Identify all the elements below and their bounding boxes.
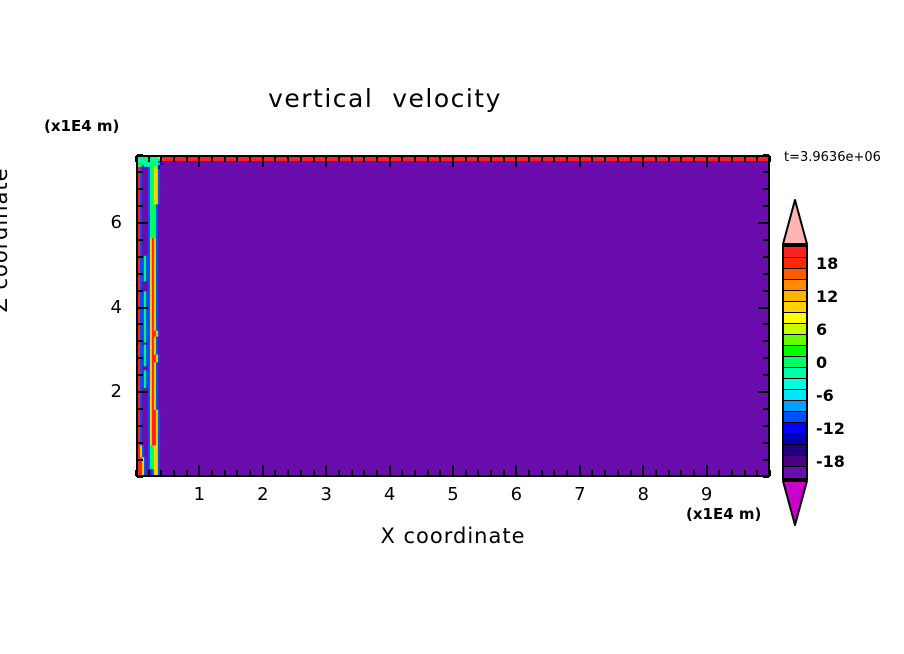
- x-minor-tick: [769, 156, 771, 162]
- x-minor-tick: [566, 156, 568, 162]
- x-minor-tick: [490, 156, 492, 162]
- colorbar-band: [784, 335, 806, 346]
- y-minor-tick: [763, 273, 769, 275]
- x-major-tick: [198, 465, 200, 476]
- x-minor-tick: [300, 470, 302, 476]
- x-minor-tick: [566, 470, 568, 476]
- colorbar-band: [784, 357, 806, 368]
- colorbar-tick-label: -12: [816, 419, 876, 438]
- x-minor-tick: [541, 156, 543, 162]
- colorbar-band: [784, 269, 806, 280]
- y-minor-tick: [137, 442, 143, 444]
- colorbar-band: [784, 379, 806, 390]
- x-major-tick: [325, 465, 327, 476]
- x-minor-tick: [439, 470, 441, 476]
- x-major-tick: [389, 156, 391, 167]
- y-major-tick: [137, 222, 148, 224]
- colorbar-tick-label: 0: [816, 353, 876, 372]
- y-minor-tick: [763, 256, 769, 258]
- x-minor-tick: [541, 470, 543, 476]
- x-minor-tick: [655, 156, 657, 162]
- x-minor-tick: [604, 156, 606, 162]
- x-minor-tick: [528, 156, 530, 162]
- x-minor-tick: [591, 470, 593, 476]
- x-major-tick: [706, 156, 708, 167]
- colorbar-band: [784, 456, 806, 467]
- x-minor-tick: [148, 470, 150, 476]
- y-tick-label: 6: [96, 212, 122, 233]
- y-minor-tick: [137, 408, 143, 410]
- y-minor-tick: [137, 374, 143, 376]
- colorbar-tick-label: 18: [816, 254, 876, 273]
- y-minor-tick: [137, 323, 143, 325]
- x-minor-tick: [351, 156, 353, 162]
- x-minor-tick: [300, 156, 302, 162]
- x-minor-tick: [401, 470, 403, 476]
- x-minor-tick: [630, 156, 632, 162]
- x-minor-tick: [148, 156, 150, 162]
- colorbar-bottom-arrow-icon: [782, 480, 808, 526]
- x-minor-tick: [756, 470, 758, 476]
- x-tick-label: 2: [243, 484, 283, 505]
- colorbar-band: [784, 324, 806, 335]
- x-minor-tick: [503, 156, 505, 162]
- x-minor-tick: [236, 470, 238, 476]
- x-tick-label: 9: [687, 484, 727, 505]
- y-minor-tick: [137, 188, 143, 190]
- x-minor-tick: [503, 470, 505, 476]
- x-minor-tick: [477, 470, 479, 476]
- x-minor-tick: [477, 156, 479, 162]
- x-minor-tick: [490, 470, 492, 476]
- y-minor-tick: [763, 205, 769, 207]
- x-minor-tick: [224, 156, 226, 162]
- x-minor-tick: [160, 156, 162, 162]
- x-minor-tick: [617, 156, 619, 162]
- y-axis-unit-label: (x1E4 m): [44, 117, 119, 135]
- x-minor-tick: [655, 470, 657, 476]
- x-minor-tick: [439, 156, 441, 162]
- x-tick-label: 1: [179, 484, 219, 505]
- x-minor-tick: [351, 470, 353, 476]
- x-minor-tick: [287, 470, 289, 476]
- x-major-tick: [579, 465, 581, 476]
- x-tick-label: 7: [560, 484, 600, 505]
- x-minor-tick: [756, 156, 758, 162]
- x-minor-tick: [553, 470, 555, 476]
- x-minor-tick: [414, 156, 416, 162]
- colorbar-bands: [782, 245, 808, 480]
- x-minor-tick: [249, 156, 251, 162]
- y-minor-tick: [763, 476, 769, 478]
- x-tick-label: 5: [433, 484, 473, 505]
- y-major-tick: [758, 307, 769, 309]
- x-minor-tick: [173, 156, 175, 162]
- x-minor-tick: [224, 470, 226, 476]
- x-minor-tick: [135, 156, 137, 162]
- contour-plot-area: [136, 155, 770, 477]
- x-minor-tick: [363, 470, 365, 476]
- x-minor-tick: [604, 470, 606, 476]
- x-major-tick: [452, 156, 454, 167]
- x-minor-tick: [591, 156, 593, 162]
- colorbar-tick-label: 6: [816, 320, 876, 339]
- y-tick-label: 2: [96, 381, 122, 402]
- y-minor-tick: [763, 340, 769, 342]
- x-minor-tick: [211, 470, 213, 476]
- x-major-tick: [579, 156, 581, 167]
- y-minor-tick: [763, 425, 769, 427]
- colorbar-tick-label: -18: [816, 452, 876, 471]
- x-minor-tick: [313, 470, 315, 476]
- colorbar-top-arrow-icon: [782, 199, 808, 245]
- chart-title: vertical velocity: [0, 84, 770, 113]
- x-minor-tick: [668, 470, 670, 476]
- colorbar-tick-label: -6: [816, 386, 876, 405]
- colorbar-band: [784, 258, 806, 269]
- x-minor-tick: [287, 156, 289, 162]
- x-minor-tick: [160, 470, 162, 476]
- x-minor-tick: [313, 156, 315, 162]
- x-minor-tick: [528, 470, 530, 476]
- colorbar-band: [784, 467, 806, 478]
- x-minor-tick: [173, 470, 175, 476]
- y-minor-tick: [763, 357, 769, 359]
- x-minor-tick: [274, 470, 276, 476]
- y-minor-tick: [763, 154, 769, 156]
- colorbar-band: [784, 390, 806, 401]
- x-major-tick: [452, 465, 454, 476]
- colorbar-band: [784, 247, 806, 258]
- x-major-tick: [642, 465, 644, 476]
- y-minor-tick: [137, 205, 143, 207]
- x-minor-tick: [731, 156, 733, 162]
- colorbar-band: [784, 302, 806, 313]
- x-major-tick: [262, 465, 264, 476]
- y-minor-tick: [137, 476, 143, 478]
- x-minor-tick: [236, 156, 238, 162]
- x-minor-tick: [630, 470, 632, 476]
- y-minor-tick: [137, 273, 143, 275]
- x-tick-label: 4: [370, 484, 410, 505]
- y-minor-tick: [137, 239, 143, 241]
- x-minor-tick: [744, 156, 746, 162]
- y-minor-tick: [137, 154, 143, 156]
- x-minor-tick: [211, 156, 213, 162]
- x-minor-tick: [186, 156, 188, 162]
- x-axis-unit-label: (x1E4 m): [686, 505, 761, 523]
- y-minor-tick: [137, 357, 143, 359]
- colorbar-band: [784, 434, 806, 445]
- colorbar-band: [784, 346, 806, 357]
- y-minor-tick: [137, 459, 143, 461]
- y-minor-tick: [763, 459, 769, 461]
- x-minor-tick: [338, 156, 340, 162]
- y-minor-tick: [137, 290, 143, 292]
- y-minor-tick: [763, 408, 769, 410]
- y-tick-label: 4: [96, 297, 122, 318]
- time-annotation: t=3.9636e+06: [784, 150, 881, 165]
- x-major-tick: [262, 156, 264, 167]
- x-minor-tick: [718, 470, 720, 476]
- x-minor-tick: [427, 470, 429, 476]
- y-minor-tick: [763, 171, 769, 173]
- x-minor-tick: [617, 470, 619, 476]
- x-minor-tick: [680, 156, 682, 162]
- y-minor-tick: [763, 290, 769, 292]
- y-minor-tick: [137, 425, 143, 427]
- colorbar-band: [784, 401, 806, 412]
- x-major-tick: [389, 465, 391, 476]
- x-tick-label: 6: [496, 484, 536, 505]
- x-major-tick: [706, 465, 708, 476]
- y-minor-tick: [137, 340, 143, 342]
- colorbar-band: [784, 291, 806, 302]
- y-minor-tick: [763, 442, 769, 444]
- y-minor-tick: [763, 188, 769, 190]
- x-minor-tick: [249, 470, 251, 476]
- x-minor-tick: [376, 470, 378, 476]
- x-minor-tick: [731, 470, 733, 476]
- x-major-tick: [198, 156, 200, 167]
- colorbar-band: [784, 280, 806, 291]
- y-axis-title: Z coordinate: [0, 150, 12, 330]
- colorbar-band: [784, 423, 806, 434]
- x-minor-tick: [769, 470, 771, 476]
- x-minor-tick: [401, 156, 403, 162]
- x-minor-tick: [680, 470, 682, 476]
- colorbar-band: [784, 445, 806, 456]
- x-tick-label: 8: [623, 484, 663, 505]
- x-major-tick: [325, 156, 327, 167]
- x-major-tick: [642, 156, 644, 167]
- figure-canvas: vertical velocity (x1E4 m) t=3.9636e+06 …: [0, 0, 904, 654]
- y-minor-tick: [763, 323, 769, 325]
- x-minor-tick: [338, 470, 340, 476]
- colorbar-tick-label: 12: [816, 287, 876, 306]
- colorbar-band: [784, 313, 806, 324]
- y-minor-tick: [137, 171, 143, 173]
- y-major-tick: [758, 222, 769, 224]
- y-major-tick: [758, 391, 769, 393]
- x-minor-tick: [427, 156, 429, 162]
- x-minor-tick: [693, 156, 695, 162]
- x-minor-tick: [414, 470, 416, 476]
- y-minor-tick: [763, 239, 769, 241]
- x-minor-tick: [274, 156, 276, 162]
- x-minor-tick: [465, 156, 467, 162]
- x-minor-tick: [693, 470, 695, 476]
- x-minor-tick: [363, 156, 365, 162]
- x-minor-tick: [376, 156, 378, 162]
- y-minor-tick: [137, 256, 143, 258]
- y-major-tick: [137, 307, 148, 309]
- y-minor-tick: [763, 374, 769, 376]
- colorbar-band: [784, 412, 806, 423]
- x-minor-tick: [718, 156, 720, 162]
- colorbar-band: [784, 368, 806, 379]
- x-minor-tick: [465, 470, 467, 476]
- y-major-tick: [137, 391, 148, 393]
- vertical-velocity-field: [138, 157, 768, 475]
- x-tick-label: 3: [306, 484, 346, 505]
- x-minor-tick: [668, 156, 670, 162]
- x-major-tick: [515, 465, 517, 476]
- x-axis-title: X coordinate: [136, 524, 770, 548]
- x-major-tick: [515, 156, 517, 167]
- x-minor-tick: [744, 470, 746, 476]
- x-minor-tick: [553, 156, 555, 162]
- x-minor-tick: [186, 470, 188, 476]
